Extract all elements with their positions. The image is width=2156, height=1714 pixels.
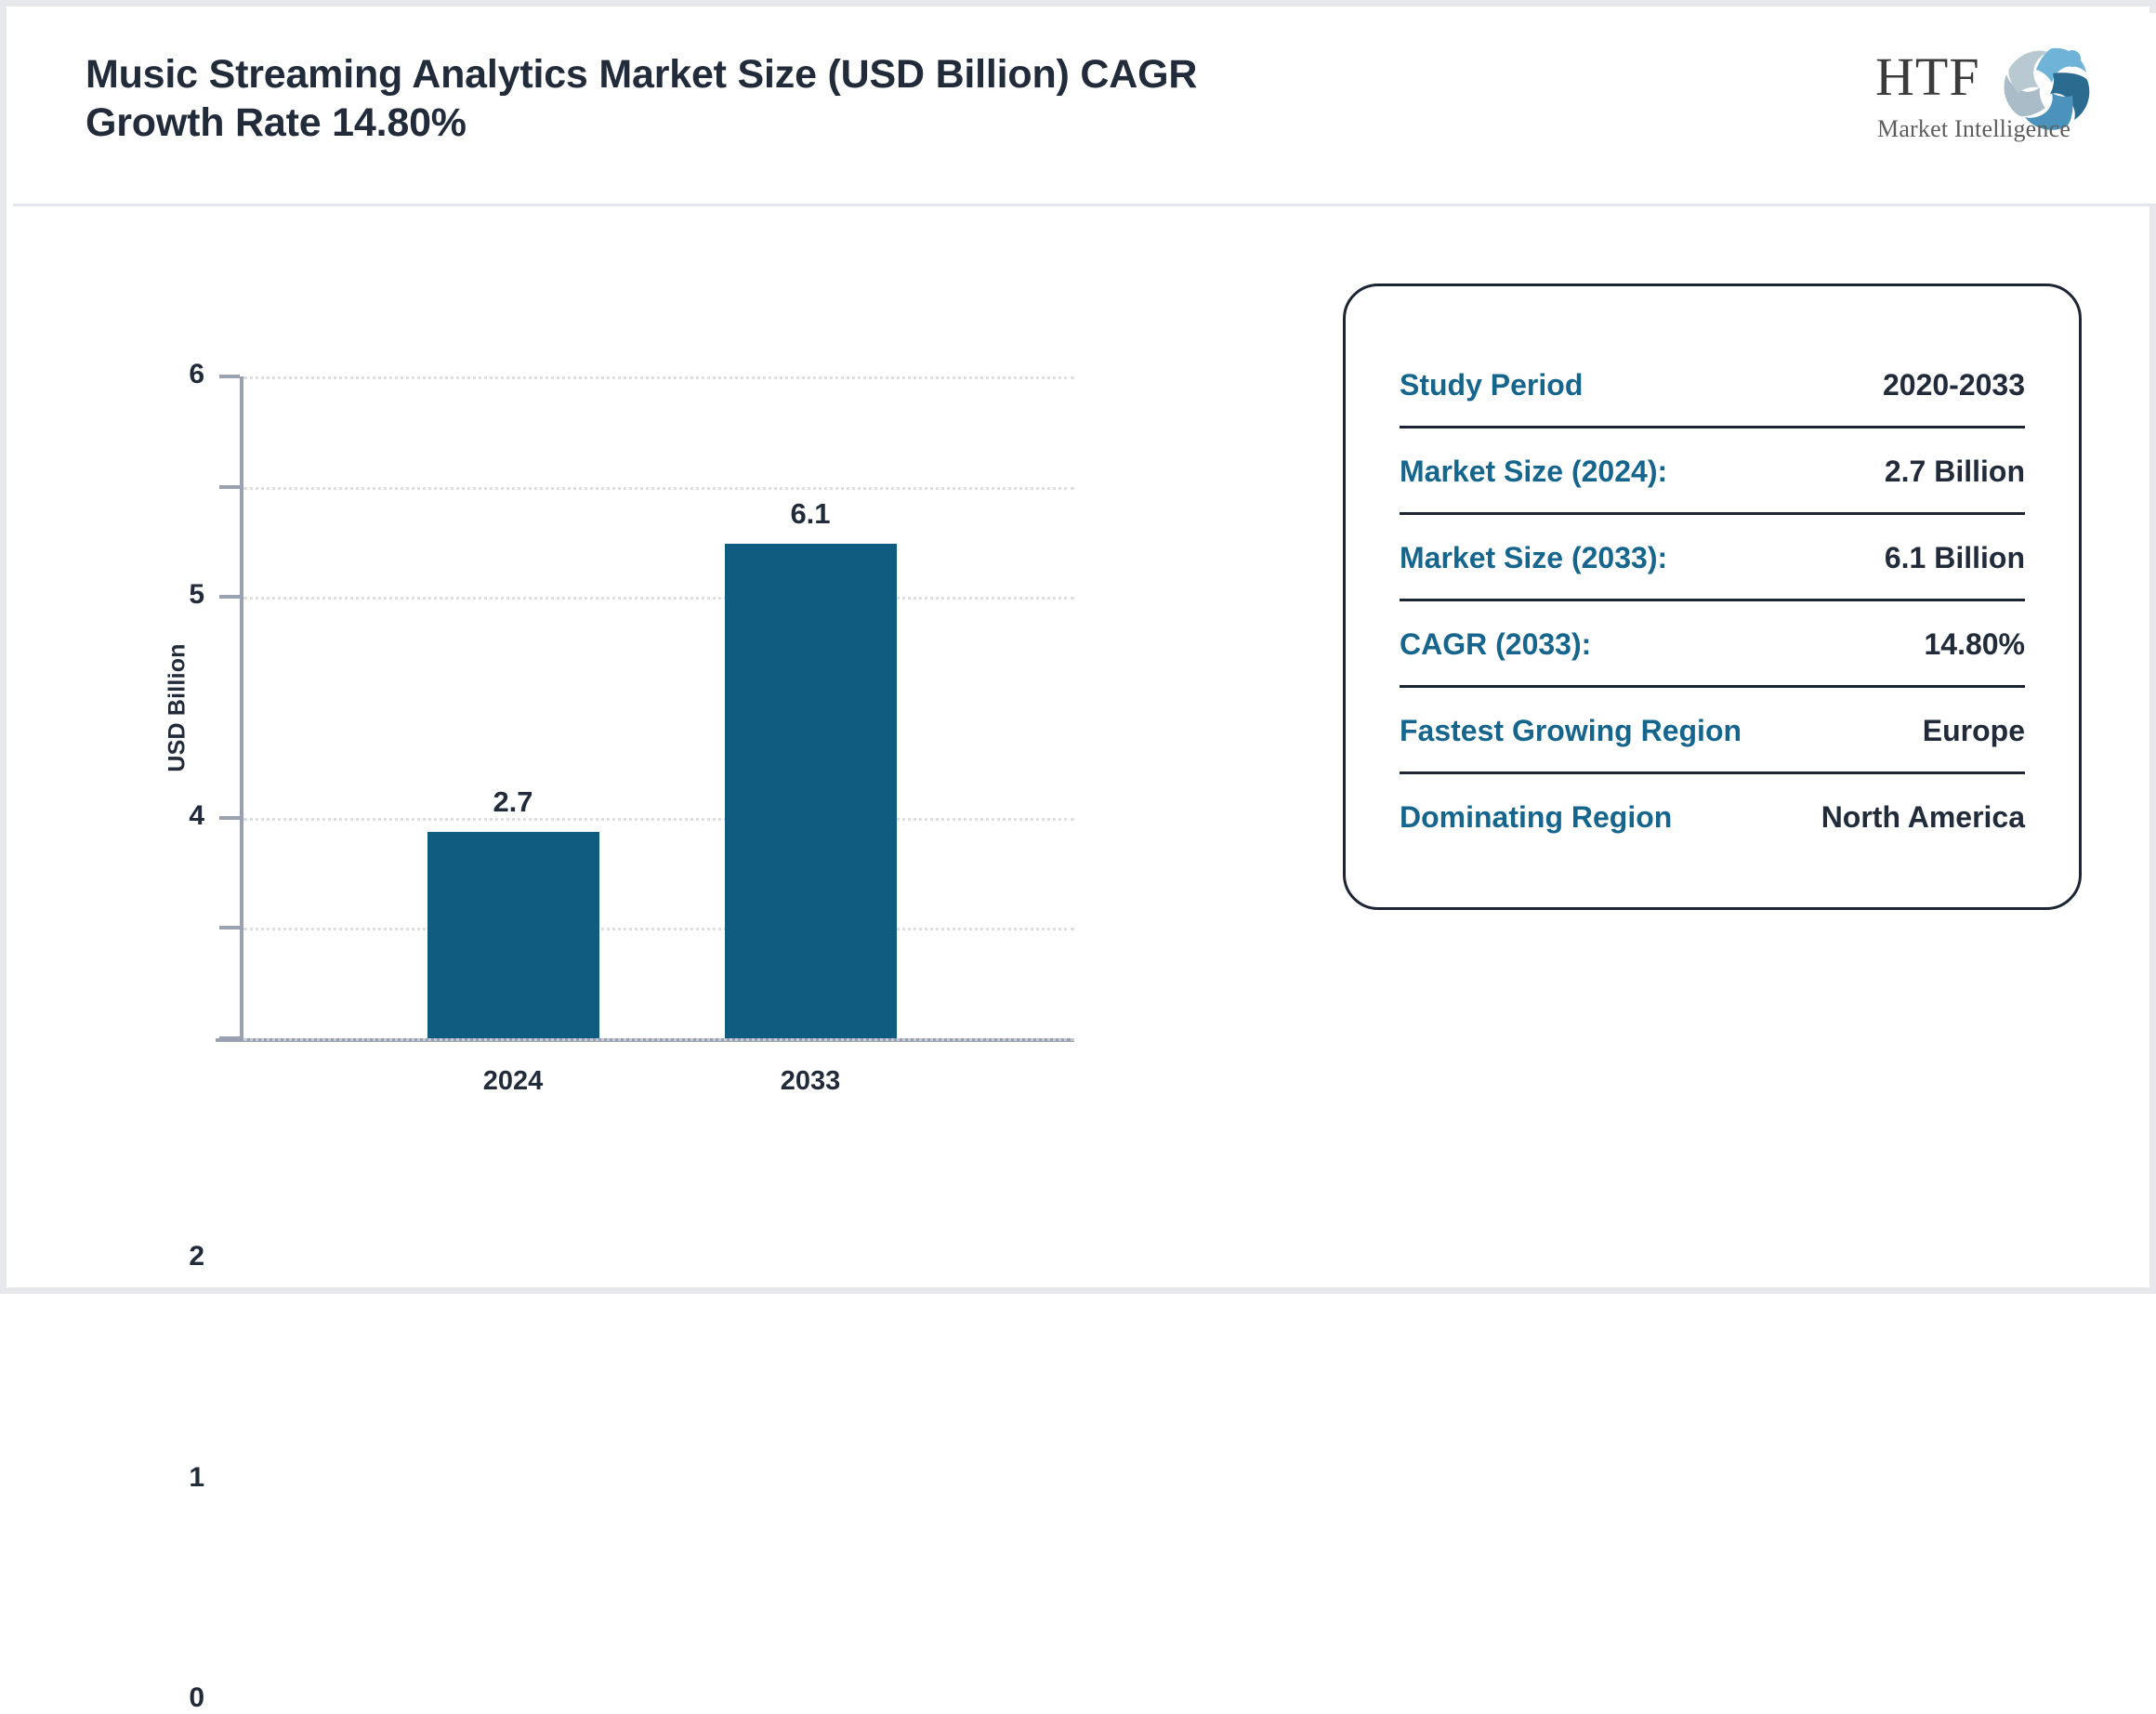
summary-row-label: Study Period: [1400, 368, 1583, 402]
summary-row: Market Size (2033):6.1 Billion: [1400, 515, 2025, 601]
gridline: [243, 376, 1074, 379]
summary-row-value: 2.7 Billion: [1885, 455, 2025, 489]
y-tick-label: 6: [189, 359, 204, 390]
summary-row: Dominating RegionNorth America: [1400, 774, 2025, 861]
y-tick-label: 2: [189, 1241, 204, 1272]
y-axis-title-label: USD Billion: [164, 643, 191, 771]
y-tick-label: 1: [189, 1462, 204, 1494]
summary-row-label: CAGR (2033):: [1400, 627, 1591, 662]
bar-value-label: 6.1: [790, 497, 830, 531]
plot-area: 012456 2.720246.12033: [243, 376, 1074, 1038]
brand-logo: HTF Market Intelligence: [1875, 43, 2098, 145]
summary-row: Study Period2020-2033: [1400, 342, 2025, 428]
y-tick-mark: 4: [219, 595, 240, 599]
y-tick-mark: 1: [219, 926, 240, 930]
page-title: Music Streaming Analytics Market Size (U…: [85, 50, 1247, 148]
summary-row-label: Market Size (2024):: [1400, 455, 1667, 489]
bar[interactable]: 2.7: [427, 832, 599, 1038]
gridline: [243, 818, 1074, 821]
bar-chart: USD Billion 012456 2.720246.12033: [13, 209, 1314, 1294]
y-tick-label: 5: [189, 579, 204, 611]
summary-row-value: 6.1 Billion: [1885, 541, 2025, 575]
summary-row-value: Europe: [1923, 714, 2025, 748]
summary-row-value: 2020-2033: [1883, 368, 2025, 402]
page-root: Music Streaming Analytics Market Size (U…: [0, 0, 2156, 1294]
gridline: [243, 928, 1074, 930]
y-tick-mark: 2: [219, 816, 240, 820]
x-tick-label: 2033: [781, 1066, 841, 1097]
y-tick-mark: 5: [219, 485, 240, 489]
x-tick-label: 2024: [483, 1066, 544, 1097]
y-tick-label: 4: [189, 800, 204, 832]
summary-row: Market Size (2024):2.7 Billion: [1400, 428, 2025, 515]
summary-row-label: Dominating Region: [1400, 800, 1672, 835]
logo-wordmark: HTF: [1875, 50, 1980, 104]
y-tick-mark: 0: [219, 1036, 240, 1040]
page-header: Music Streaming Analytics Market Size (U…: [13, 13, 2156, 206]
summary-row-label: Market Size (2033):: [1400, 541, 1667, 575]
bar[interactable]: 6.1: [725, 544, 897, 1038]
summary-row-value: North America: [1821, 800, 2025, 835]
gridline: [243, 597, 1074, 600]
logo-subtitle: Market Intelligence: [1877, 115, 2071, 143]
summary-row-label: Fastest Growing Region: [1400, 714, 1742, 748]
y-axis-spine: [240, 376, 243, 1038]
summary-row: Fastest Growing RegionEurope: [1400, 688, 2025, 774]
market-summary-card: Study Period2020-2033Market Size (2024):…: [1343, 283, 2082, 910]
bar-value-label: 2.7: [493, 785, 532, 819]
gridline: [243, 1038, 1074, 1041]
y-tick-label: 0: [189, 1682, 204, 1714]
market-summary-rows: Study Period2020-2033Market Size (2024):…: [1400, 342, 2025, 861]
summary-row: CAGR (2033):14.80%: [1400, 601, 2025, 688]
y-axis-title: USD Billion: [113, 376, 242, 1038]
summary-row-value: 14.80%: [1924, 627, 2025, 662]
gridline: [243, 487, 1074, 490]
y-tick-mark: 6: [219, 375, 240, 378]
